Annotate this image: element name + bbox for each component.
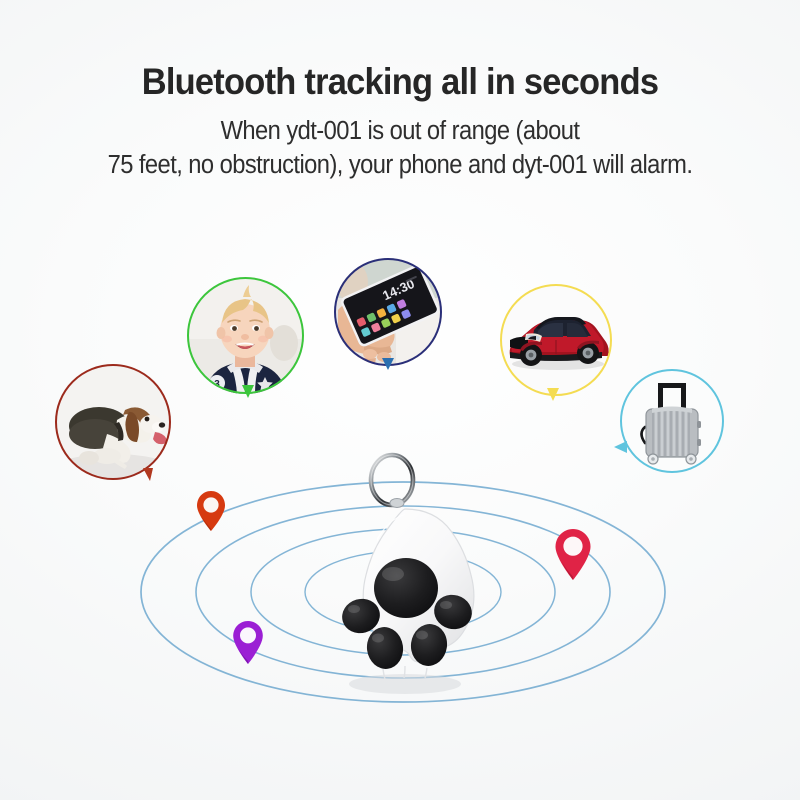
map-pin-purple[interactable] xyxy=(232,620,264,665)
bubble-car[interactable] xyxy=(500,284,612,396)
subtitle-line-1: When ydt-001 is out of range (about xyxy=(221,117,580,145)
page-title: Bluetooth tracking all in seconds xyxy=(28,62,772,103)
car-photo xyxy=(500,284,612,396)
dog-photo xyxy=(55,364,171,480)
map-pin-crimson[interactable] xyxy=(554,528,592,581)
dog-bubble-pointer xyxy=(143,468,153,481)
smartphone-photo: 14:30 xyxy=(334,258,442,366)
car-bubble-pointer xyxy=(547,388,559,401)
suitcase-photo xyxy=(620,369,724,473)
subtitle-line-2: 75 feet, no obstruction), your phone and… xyxy=(28,148,772,183)
phone-bubble-pointer xyxy=(382,358,394,370)
bubble-dog[interactable] xyxy=(55,364,171,480)
bubble-baby[interactable]: 3 xyxy=(187,277,304,394)
svg-text:3: 3 xyxy=(214,379,220,390)
baby-bubble-pointer xyxy=(242,385,254,398)
product-marketing-banner: Bluetooth tracking all in seconds When y… xyxy=(0,0,800,800)
headings-block: Bluetooth tracking all in seconds When y… xyxy=(0,62,800,183)
suitcase-bubble-pointer xyxy=(614,441,627,453)
bubble-suitcase[interactable] xyxy=(620,369,724,473)
paw-tracker-device[interactable] xyxy=(305,452,505,702)
baby-photo: 3 xyxy=(187,277,304,394)
page-subtitle: When ydt-001 is out of range (about 75 f… xyxy=(28,114,772,183)
bubble-smartphone[interactable]: 14:30 xyxy=(334,258,442,366)
keyring xyxy=(371,455,413,508)
pad-center xyxy=(374,558,438,618)
map-pin-orange[interactable] xyxy=(196,490,226,532)
